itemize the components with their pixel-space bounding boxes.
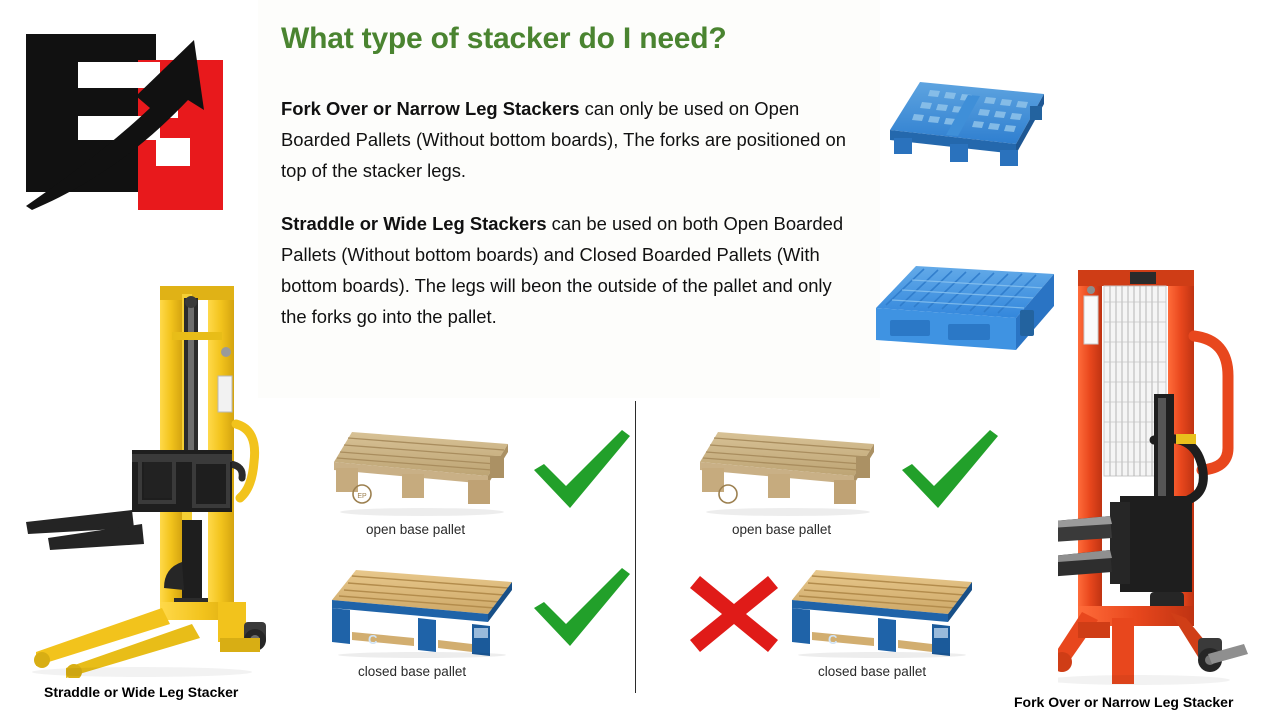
blue-open-base-plastic-pallet: [884, 72, 1052, 178]
paragraph-fork-over: Fork Over or Narrow Leg Stackers can onl…: [281, 93, 861, 186]
wood-closed-base-pallet-right: C: [782, 562, 986, 658]
paragraph-straddle: Straddle or Wide Leg Stackers can be use…: [281, 208, 861, 332]
check-mark-left-open: [530, 424, 636, 518]
caption-left-open-base: open base pallet: [366, 522, 465, 537]
wood-closed-base-pallet-left: C: [322, 562, 526, 658]
svg-text:EP: EP: [357, 493, 367, 500]
wood-open-base-pallet-left: EP: [322, 422, 526, 518]
svg-text:C: C: [368, 632, 378, 647]
paragraph-straddle-lead: Straddle or Wide Leg Stackers: [281, 213, 547, 234]
blue-closed-base-plastic-pallet: [868, 258, 1064, 368]
check-mark-right-open: [898, 424, 1004, 518]
page-title: What type of stacker do I need?: [281, 22, 881, 56]
caption-right-closed-base: closed base pallet: [818, 664, 926, 679]
paragraph-fork-over-lead: Fork Over or Narrow Leg Stackers: [281, 98, 579, 119]
label-straddle-stacker: Straddle or Wide Leg Stacker: [44, 684, 238, 700]
check-mark-left-closed: [530, 562, 636, 656]
wood-open-base-pallet-right: [688, 422, 892, 518]
text-panel: [258, 0, 880, 398]
label-fork-over-stacker: Fork Over or Narrow Leg Stacker: [1014, 694, 1233, 710]
yellow-straddle-stacker: [22, 272, 280, 678]
svg-text:C: C: [828, 632, 838, 647]
caption-left-closed-base: closed base pallet: [358, 664, 466, 679]
infographic-canvas: What type of stacker do I need? Fork Ove…: [0, 0, 1280, 720]
red-fork-over-stacker: [1058, 262, 1258, 690]
caption-right-open-base: open base pallet: [732, 522, 831, 537]
cross-mark-right-closed: [688, 572, 780, 656]
ez-lift-logo: [18, 16, 230, 212]
